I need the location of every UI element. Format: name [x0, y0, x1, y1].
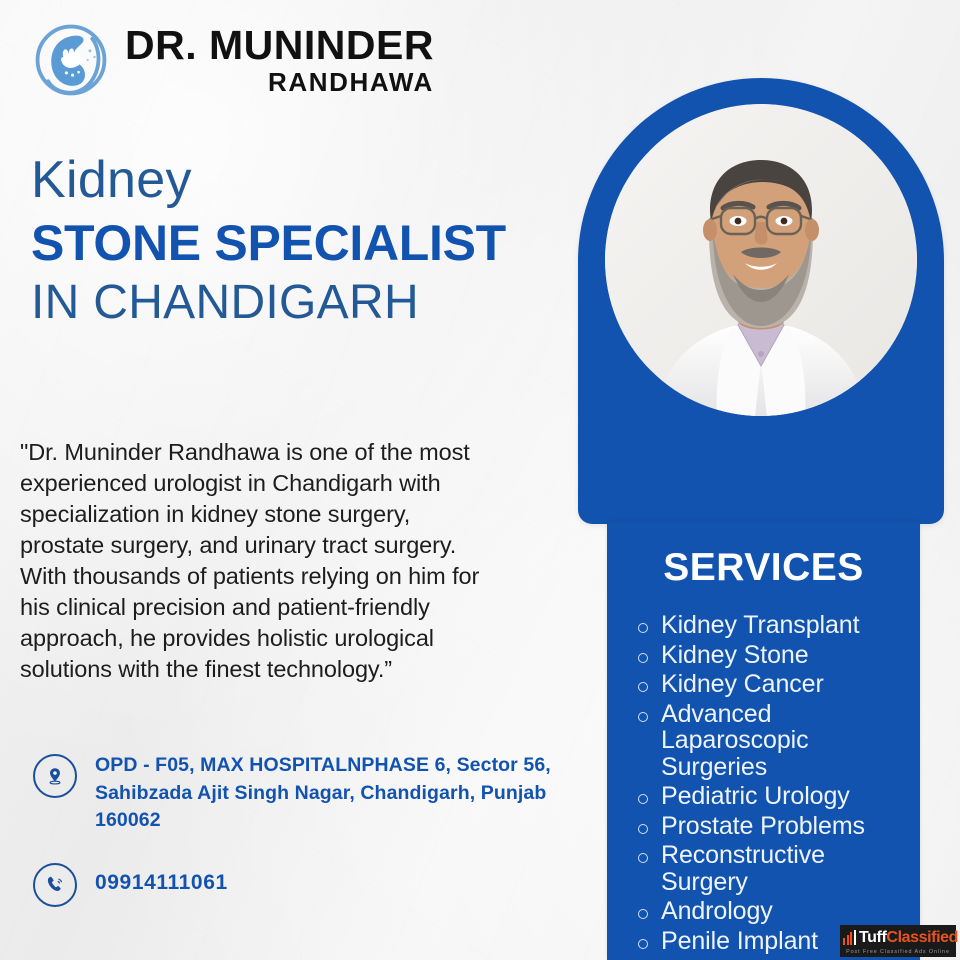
brand-name: DR. MUNINDER	[125, 22, 434, 68]
service-item: Pediatric Urology	[638, 783, 910, 810]
bullet-circle-icon	[638, 682, 648, 692]
brand-logo-text: DR. MUNINDER RANDHAWA	[125, 25, 434, 95]
headline-line-2: STONE SPECIALIST	[31, 214, 506, 273]
watermark-logo-row: Tuff Classified	[843, 928, 953, 948]
service-label: Kidney Transplant	[661, 611, 859, 639]
contact-address-text: OPD - F05, MAX HOSPITALNPHASE 6, Sector …	[95, 752, 553, 835]
bullet-circle-icon	[638, 853, 648, 863]
phone-call-icon	[33, 863, 77, 907]
bullet-circle-icon	[638, 824, 648, 834]
bullet-circle-icon	[638, 939, 648, 949]
doctor-portrait-photo	[605, 104, 917, 416]
watermark-word-tuff: Tuff	[859, 930, 886, 946]
bullet-circle-icon	[638, 794, 648, 804]
bullet-circle-icon	[638, 623, 648, 633]
kidney-hands-logo-icon	[33, 22, 109, 98]
bullet-circle-icon	[638, 909, 648, 919]
service-label: Advanced Laparoscopic Surgeries	[661, 700, 809, 781]
service-item: Kidney Cancer	[638, 671, 910, 698]
service-item: Andrology	[638, 898, 910, 925]
tuffclassified-watermark: Tuff Classified Post Free Classified Ads…	[840, 925, 956, 957]
portrait-arch-panel	[578, 78, 944, 524]
bullet-circle-icon	[638, 653, 648, 663]
service-item: Kidney Transplant	[638, 612, 910, 639]
watermark-tagline: Post Free Classified Ads Online	[843, 949, 953, 955]
service-label: Kidney Stone	[661, 641, 809, 669]
contact-address-row: OPD - F05, MAX HOSPITALNPHASE 6, Sector …	[33, 752, 553, 835]
service-item: Prostate Problems	[638, 813, 910, 840]
service-label: Penile Implant	[661, 927, 818, 955]
service-item: Advanced Laparoscopic Surgeries	[638, 701, 910, 781]
contact-phone-number[interactable]: 09914111061	[95, 861, 228, 898]
bullet-circle-icon	[638, 712, 648, 722]
services-title: SERVICES	[607, 546, 920, 590]
service-item: Kidney Stone	[638, 642, 910, 669]
brand-logo: DR. MUNINDER RANDHAWA	[33, 22, 434, 98]
service-item: Reconstructive Surgery	[638, 842, 910, 895]
service-label: Andrology	[661, 897, 773, 925]
watermark-word-classified: Classified	[886, 930, 958, 946]
service-label: Kidney Cancer	[661, 670, 824, 698]
service-label: Reconstructive Surgery	[661, 841, 825, 896]
bar-chart-icon	[843, 930, 857, 945]
brand-surname: RANDHAWA	[125, 69, 434, 95]
services-list: Kidney Transplant Kidney Stone Kidney Ca…	[607, 612, 920, 954]
contact-block: OPD - F05, MAX HOSPITALNPHASE 6, Sector …	[33, 752, 553, 933]
service-label: Prostate Problems	[661, 812, 865, 840]
services-panel: SERVICES Kidney Transplant Kidney Stone …	[607, 522, 920, 960]
poster-canvas: DR. MUNINDER RANDHAWA Kidney STONE SPECI…	[0, 0, 960, 960]
contact-phone-row[interactable]: 09914111061	[33, 861, 553, 907]
location-pin-icon	[33, 754, 77, 798]
doctor-description-quote: "Dr. Muninder Randhawa is one of the mos…	[20, 437, 500, 685]
headline-line-3: IN CHANDIGARH	[31, 275, 506, 330]
headline-line-1: Kidney	[31, 152, 506, 208]
headline-block: Kidney STONE SPECIALIST IN CHANDIGARH	[31, 152, 506, 330]
service-label: Pediatric Urology	[661, 782, 850, 810]
